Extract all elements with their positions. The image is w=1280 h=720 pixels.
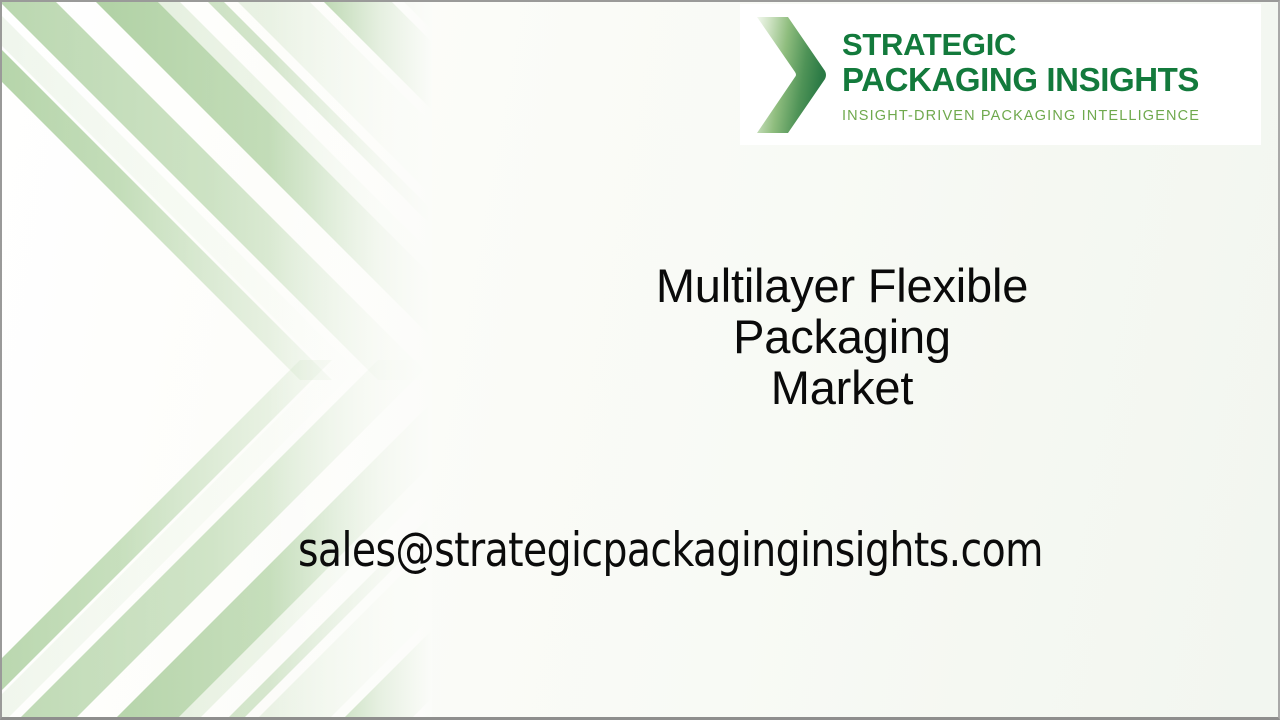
logo-tagline: INSIGHT-DRIVEN PACKAGING INTELLIGENCE (842, 108, 1261, 124)
title-line-3: Market (442, 362, 1242, 413)
title-line-1: Multilayer Flexible (442, 260, 1242, 311)
chevron-band-svg (2, 2, 432, 720)
page-title: Multilayer Flexible Packaging Market (442, 260, 1242, 413)
title-line-2: Packaging (442, 311, 1242, 362)
logo-line-1: STRATEGIC (842, 27, 1261, 62)
company-logo: STRATEGIC PACKAGING INSIGHTS INSIGHT-DRI… (740, 4, 1261, 145)
chevron-band-graphic (2, 2, 432, 720)
logo-wordmark: STRATEGIC PACKAGING INSIGHTS INSIGHT-DRI… (842, 25, 1261, 124)
chevron-right-icon (754, 9, 828, 141)
title-slide: STRATEGIC PACKAGING INSIGHTS INSIGHT-DRI… (0, 0, 1280, 720)
logo-line-2: PACKAGING INSIGHTS (842, 62, 1261, 97)
contact-email[interactable]: sales@strategicpackaginginsights.com (298, 522, 1043, 580)
